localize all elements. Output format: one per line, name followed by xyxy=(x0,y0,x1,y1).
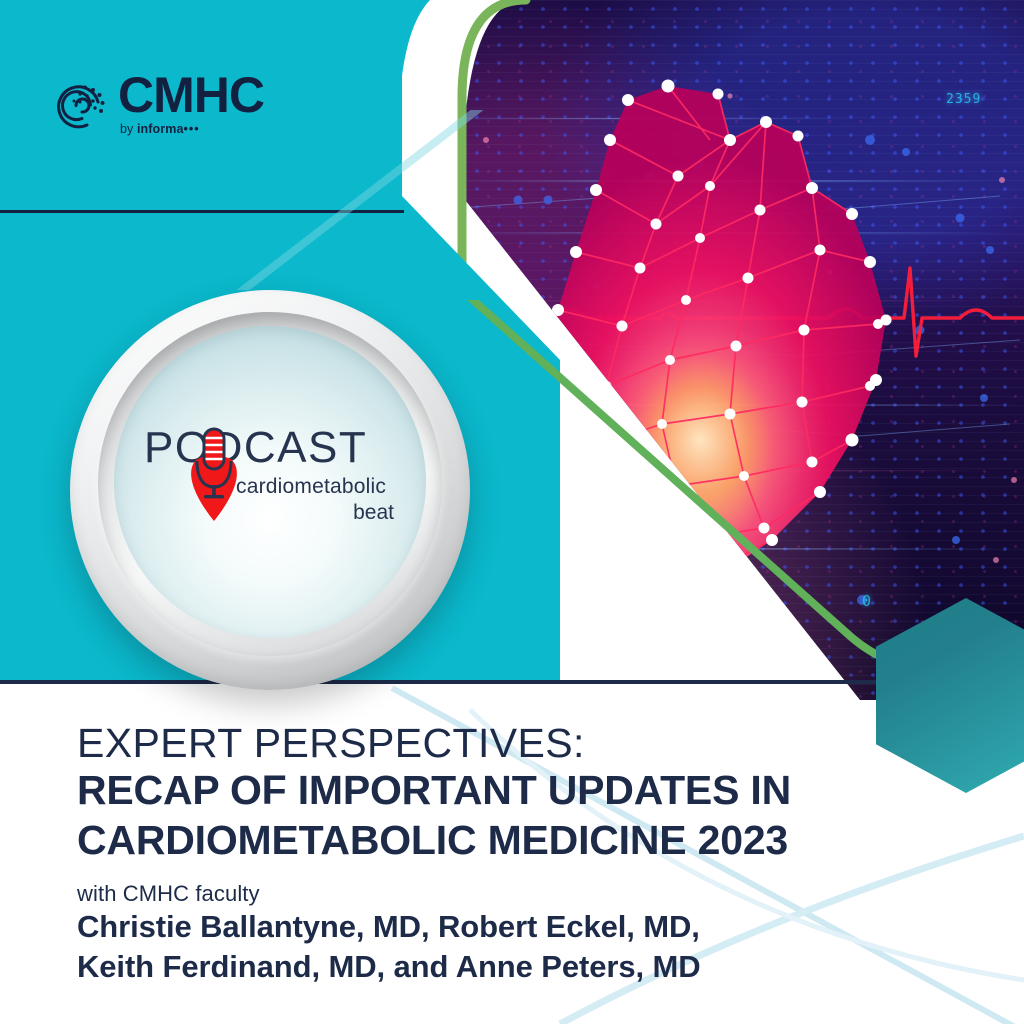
eyebrow-text: EXPERT PERSPECTIVES: xyxy=(77,722,977,765)
cmhc-logo[interactable]: CMHC by informa••• xyxy=(52,72,264,136)
podcast-badge[interactable]: PODCAST cardiometabolic be xyxy=(70,290,470,690)
podcast-wordmark: PODCAST xyxy=(144,423,396,473)
podcast-subtitle-line2: beat xyxy=(353,501,394,525)
faculty-line-2: Keith Ferdinand, MD, and Anne Peters, MD xyxy=(77,947,977,987)
teal-diagonal-highlight xyxy=(190,110,490,290)
readout-0: 0 xyxy=(862,592,872,610)
readout-0000: 0000 xyxy=(570,600,607,614)
title-line-1: RECAP OF IMPORTANT UPDATES IN xyxy=(77,767,977,815)
podcast-subtitle-line1: cardiometabolic xyxy=(236,475,386,499)
podcast-logo: PODCAST cardiometabolic be xyxy=(144,423,396,541)
badge-face: PODCAST cardiometabolic be xyxy=(114,326,426,638)
title-block: EXPERT PERSPECTIVES: RECAP OF IMPORTANT … xyxy=(77,722,977,987)
faculty-line-1: Christie Ballantyne, MD, Robert Eckel, M… xyxy=(77,907,977,947)
byline-dots: ••• xyxy=(184,122,200,136)
byline-name: informa xyxy=(137,122,184,136)
faculty-label: with CMHC faculty xyxy=(77,881,977,907)
cmhc-circular-mark-icon xyxy=(52,80,108,136)
microphone-heart-icon xyxy=(184,425,244,531)
podcast-promo-card: 2359 2359 0000 0 xyxy=(0,0,1024,1024)
title-line-2: CARDIOMETABOLIC MEDICINE 2023 xyxy=(77,817,977,865)
byline-prefix: by xyxy=(120,122,137,136)
cmhc-byline: by informa••• xyxy=(120,122,264,136)
cmhc-wordmark: CMHC xyxy=(118,72,264,120)
readout-2359-top: 2359 xyxy=(946,92,981,107)
